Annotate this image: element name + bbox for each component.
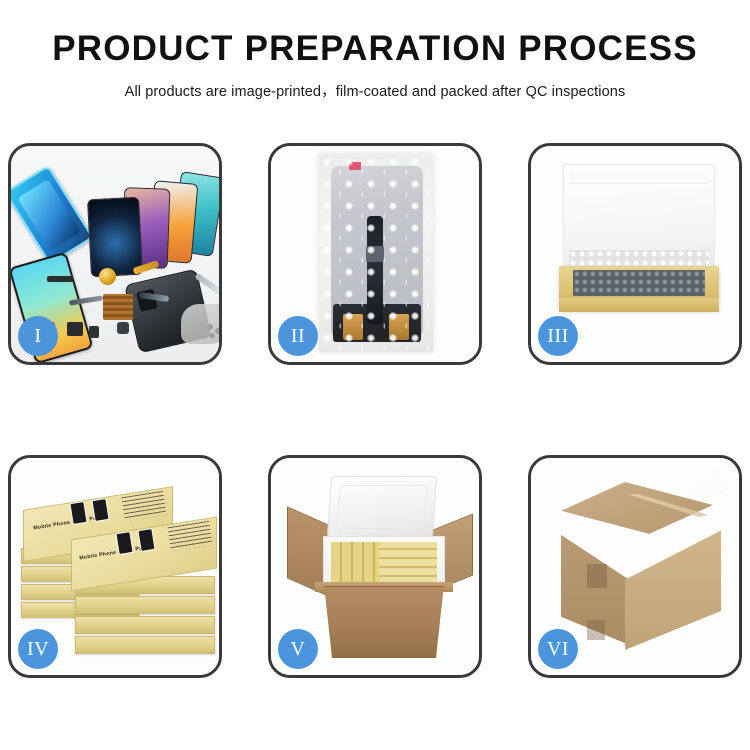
chip-grid-part [103,294,133,320]
speaker-mesh-part [47,276,73,282]
step-badge-3: III [538,316,578,356]
stacked-box-layer [75,636,215,654]
carton-right-face [625,520,721,650]
stacked-box-layer [75,616,215,634]
carton-handle-notch-top [587,564,607,588]
infographic-page: PRODUCT PREPARATION PROCESS All products… [0,0,750,750]
screws-part [207,324,219,338]
step-badge-1: I [18,316,58,356]
carton-front-wall [319,586,449,658]
step-badge-5: V [278,629,318,669]
box-thumbnail [91,498,109,522]
box-thumbnail [137,528,155,552]
blue-screen-film [11,165,94,265]
page-title: PRODUCT PREPARATION PROCESS [0,30,750,69]
header: PRODUCT PREPARATION PROCESS All products… [0,0,750,101]
step-panel-2: II [268,143,482,365]
step-panel-3: III [528,143,742,365]
stacked-box-layer [75,596,215,614]
step-panel-4: Mobile Phone Spare Parts Mobile Phone Sp… [8,455,222,678]
wireless-coil-part [99,268,116,285]
box-thumbnail [69,501,87,525]
box-thumbnail [115,531,133,555]
bubble-wrapped-contents [573,270,705,296]
foam-box-lid [327,476,437,538]
phone-screen-dark [87,197,143,278]
speaker-module-part [67,322,83,336]
step-panel-5: V [268,455,482,678]
plastic-wrap-highlight [673,468,729,498]
step-badge-2: II [278,316,318,356]
step-badge-6: VI [538,629,578,669]
camera-module-part [117,322,129,334]
carton-handle-notch-bottom [587,620,605,640]
step-badge-4: IV [18,629,58,669]
process-step-grid: I II [8,143,742,678]
kraft-boxes-inside-right [379,542,437,584]
page-subtitle: All products are image-printed，film-coat… [0,80,750,101]
step-panel-1: I [8,143,222,365]
kraft-box-front-edge [559,298,719,312]
step-panel-6: VI [528,455,742,678]
bubble-texture [319,154,433,352]
button-part [89,326,99,338]
bubble-wrap-bag [319,154,433,352]
